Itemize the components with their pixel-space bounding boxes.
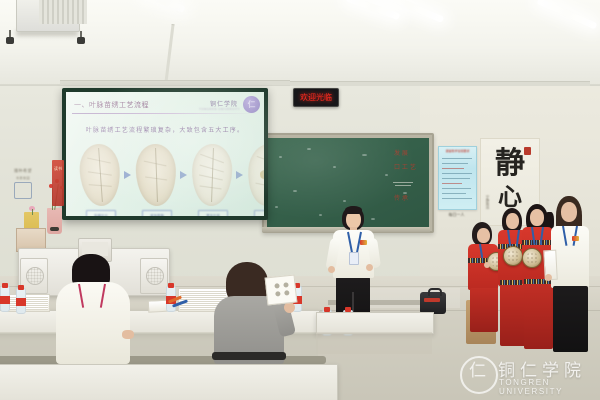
performer2-face [506, 213, 519, 229]
judge2-chair-back [212, 352, 286, 360]
wall-poster: 课堂教学常规要求 [438, 146, 477, 210]
ceiling-camera-icon-2 [77, 37, 85, 44]
process-label-3: 漂洗叶脉 [198, 210, 228, 216]
wall-conduit-left [60, 80, 290, 85]
process-leaf-3 [191, 143, 233, 206]
white-presenter-face [561, 202, 577, 222]
presenter-fringe [345, 206, 362, 214]
presenter-hand-right [366, 264, 373, 271]
white-presenter-hand [545, 274, 552, 281]
process-leaf-4 [246, 143, 264, 208]
planter-decal-pink [47, 208, 62, 234]
performer1-hand [484, 262, 490, 268]
projected-slide: 一、叶脉苗绣工艺流程 铜仁学院 TONGREN UNIVERSITY 仁 叶脉苗… [66, 92, 264, 216]
process-label-2: 浸泡脱脂 [142, 210, 172, 216]
desk-row-near [0, 364, 338, 400]
performer1-face [477, 228, 490, 243]
ceiling-camera-icon [6, 37, 14, 44]
judge1-hand [122, 330, 134, 339]
calligraphy-side-text: 宁静致远 [486, 195, 491, 209]
process-label-4: 刺绣 [254, 210, 264, 216]
presenter-badge [349, 252, 359, 265]
embroidery-hoop-2 [503, 246, 523, 266]
wall-decal-subtext: 书香校园 [16, 176, 30, 180]
paper-stack-1 [4, 294, 50, 312]
slide-title-rule [72, 113, 258, 114]
equipment-bag [420, 292, 446, 314]
speaker-right [140, 258, 168, 294]
water-bottle-5 [0, 286, 10, 312]
red-seal-icon [524, 147, 531, 155]
process-arrow-2 [180, 171, 187, 179]
poster-heading: 课堂教学常规要求 [439, 149, 476, 153]
judge2-document [265, 275, 298, 306]
embroidery-hoop-3 [522, 248, 542, 268]
air-conditioner-icon [16, 0, 80, 32]
performer3-face [530, 209, 544, 226]
desk-shelf-mid [316, 332, 432, 354]
slide-subtitle: 叶脉苗绣工艺流程繁琐复杂，大致包含五大工序。 [66, 125, 264, 134]
performer3-costume-bottom [524, 283, 553, 349]
ac-grill [39, 0, 87, 24]
presenter-lapel-pin-icon [360, 240, 367, 245]
classroom-photo: 欢迎光临 发 展 口 工 艺 传 承 一、叶脉苗绣工艺流程 铜仁学院 [0, 0, 600, 400]
poster-caption: 每日一人 [438, 212, 475, 218]
process-leaf-2 [135, 143, 177, 206]
wall-decal-text: 播种希望 [14, 168, 32, 174]
process-arrow-3 [236, 171, 243, 179]
slide-logo-subtext: TONGREN UNIVERSITY [199, 107, 240, 111]
ceiling [0, 0, 600, 88]
wall-banner: 读书 [52, 160, 64, 206]
face-illustration-icon [14, 182, 32, 199]
water-bottle-6 [16, 288, 26, 314]
blackboard-note-1: 发 展 [394, 150, 408, 157]
blackboard-note-3: 传 承 [394, 195, 408, 202]
presenter-hand-left [328, 266, 335, 273]
white-presenter-pin-icon [572, 236, 579, 241]
slide-logo-emblem: 仁 [243, 96, 260, 113]
desk-row-mid [316, 312, 434, 334]
wall-conduit-right [290, 81, 590, 86]
blackboard-note-2: 口 工 艺 [394, 164, 416, 171]
judge2-hand [284, 302, 295, 313]
slide-process-diagram [66, 144, 264, 208]
wall-banner-text: 读书 [52, 166, 64, 172]
slide-title: 一、叶脉苗绣工艺流程 [74, 100, 149, 110]
process-label-1: 采摘叶片 [86, 210, 116, 216]
process-leaf-1 [78, 143, 122, 208]
led-sign-text: 欢迎光临 [300, 92, 332, 103]
white-presenter-trousers [553, 286, 588, 352]
judge1-shirt [56, 282, 130, 364]
process-arrow-1 [124, 171, 131, 179]
projection-screen: 一、叶脉苗绣工艺流程 铜仁学院 TONGREN UNIVERSITY 仁 叶脉苗… [62, 88, 268, 220]
performer1-costume-bottom [470, 288, 498, 332]
performer2-costume-bottom [500, 284, 527, 346]
led-display-sign: 欢迎光临 [293, 88, 339, 107]
